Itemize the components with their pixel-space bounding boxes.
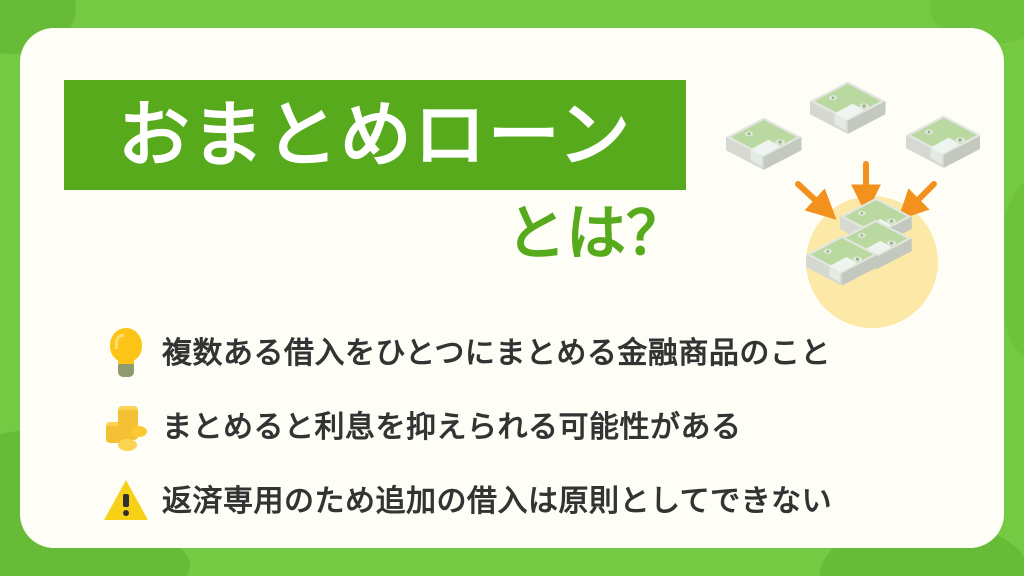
money-bundle-right (906, 115, 980, 167)
list-item-label: 複数ある借入をひとつにまとめる金融商品のこと (162, 337, 831, 370)
slide-root: おまとめローン とは？ 複数ある借入をひとつにまとめる金融商品のこと まとめると… (0, 0, 1024, 576)
list-item: 返済専用のため追加の借入は原則としてできない (104, 464, 904, 538)
bullet-list: 複数ある借入をひとつにまとめる金融商品のこと まとめると利息を抑えられる可能性が… (104, 316, 904, 538)
money-bundle-top (810, 81, 885, 133)
list-item: まとめると利息を抑えられる可能性がある (104, 390, 904, 464)
list-item: 複数ある借入をひとつにまとめる金融商品のこと (104, 316, 904, 390)
money-bundles-svg (710, 76, 980, 326)
arrow-right (908, 184, 934, 210)
page-title: おまとめローン (118, 99, 632, 171)
money-bundle-left (726, 117, 801, 169)
list-item-label: 返済専用のため追加の借入は原則としてできない (162, 485, 832, 518)
content-card: おまとめローン とは？ 複数ある借入をひとつにまとめる金融商品のこと まとめると… (20, 28, 1004, 548)
arrow-left (798, 184, 826, 210)
title-banner: おまとめローン (64, 80, 686, 190)
page-subtitle: とは？ (64, 204, 686, 264)
warning-triangle-icon (104, 476, 148, 526)
list-item-label: まとめると利息を抑えられる可能性がある (162, 411, 742, 444)
coins-icon (104, 402, 148, 452)
money-consolidation-illustration (710, 76, 980, 326)
lightbulb-icon (104, 328, 148, 378)
